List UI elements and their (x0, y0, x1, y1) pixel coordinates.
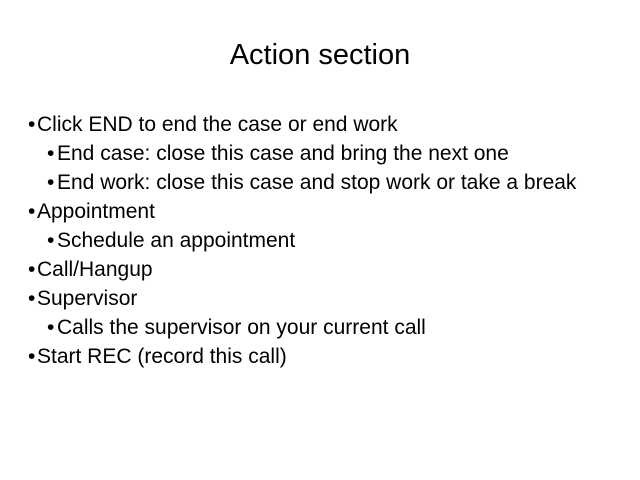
bullet-marker-icon: • (28, 110, 37, 139)
bullet-marker-icon: • (47, 226, 57, 255)
bullet-marker-icon: • (28, 197, 37, 226)
bullet-list: • Click END to end the case or end work … (28, 110, 612, 371)
list-item: • End case: close this case and bring th… (28, 139, 612, 168)
list-item: • Calls the supervisor on your current c… (28, 313, 612, 342)
list-item: • Appointment (28, 197, 612, 226)
bullet-marker-icon: • (28, 342, 37, 371)
list-item: • Start REC (record this call) (28, 342, 612, 371)
list-item: • Click END to end the case or end work (28, 110, 612, 139)
bullet-marker-icon: • (28, 284, 37, 313)
list-item-label: Start REC (record this call) (37, 342, 612, 371)
list-item: • Supervisor (28, 284, 612, 313)
list-item-label: End work: close this case and stop work … (57, 168, 612, 197)
list-item-label: End case: close this case and bring the … (57, 139, 612, 168)
list-item-label: Appointment (37, 197, 612, 226)
bullet-marker-icon: • (47, 313, 57, 342)
list-item-label: Schedule an appointment (57, 226, 612, 255)
list-item-label: Call/Hangup (37, 255, 612, 284)
slide: Action section • Click END to end the ca… (0, 0, 640, 480)
list-item-label: Click END to end the case or end work (37, 110, 612, 139)
list-item: • Schedule an appointment (28, 226, 612, 255)
list-item: • Call/Hangup (28, 255, 612, 284)
list-item: • End work: close this case and stop wor… (28, 168, 612, 197)
list-item-label: Calls the supervisor on your current cal… (57, 313, 612, 342)
bullet-marker-icon: • (47, 139, 57, 168)
page-title: Action section (0, 38, 640, 72)
bullet-marker-icon: • (47, 168, 57, 197)
bullet-marker-icon: • (28, 255, 37, 284)
list-item-label: Supervisor (37, 284, 612, 313)
